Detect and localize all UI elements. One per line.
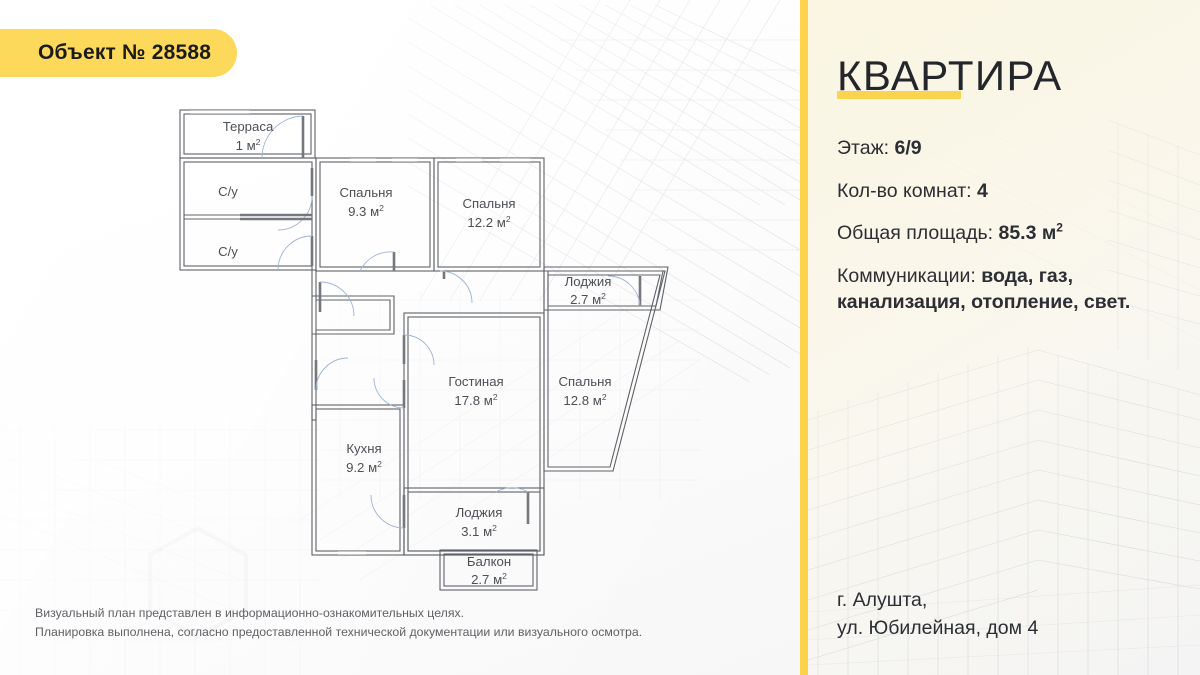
spec-floor: Этаж: 6/9 (837, 136, 1177, 162)
room-area-bed-93: 9.3 м2 (348, 203, 384, 219)
spec-area-value: 85.3 м (998, 222, 1056, 244)
floor-plan-drawing: Терраса 1 м2 С/у С/у Спальня 9.3 м2 Спал… (0, 0, 800, 675)
room-area-living: 17.8 м2 (454, 392, 497, 408)
room-area-balcony: 2.7 м2 (471, 571, 507, 587)
plan-walls (180, 110, 668, 590)
room-label-bed-128: Спальня (559, 374, 612, 389)
yellow-divider (800, 0, 808, 675)
object-number-badge: Объект № 28588 (0, 29, 237, 77)
plan-windows (190, 112, 530, 553)
room-area-bed-122: 12.2 м2 (467, 214, 510, 230)
address-line-2: ул. Юбилейная, дом 4 (837, 614, 1187, 642)
plan-doors (240, 116, 640, 528)
spec-rooms: Кол-во комнат: 4 (837, 179, 1177, 205)
room-area-kitchen: 9.2 м2 (346, 459, 382, 475)
room-label-kitchen: Кухня (346, 441, 381, 456)
disclaimer-line-1: Визуальный план представлен в информацио… (35, 604, 765, 623)
disclaimer-text: Визуальный план представлен в информацио… (35, 604, 765, 642)
room-label-bed-122: Спальня (463, 196, 516, 211)
object-number-label: Объект № 28588 (38, 41, 211, 65)
spec-floor-label: Этаж: (837, 137, 889, 159)
spec-area-label: Общая площадь: (837, 222, 993, 244)
room-label-wc-2: С/у (218, 244, 238, 259)
spec-utilities: Коммуникации: вода, газ, канализация, от… (837, 264, 1177, 315)
room-label-balcony: Балкон (467, 554, 511, 569)
room-area-loggia-27: 2.7 м2 (570, 291, 606, 307)
room-label-bed-93: Спальня (340, 185, 393, 200)
spec-rooms-label: Кол-во комнат: (837, 180, 972, 202)
address-line-1: г. Алушта, (837, 586, 1187, 614)
title-underline-rule (837, 91, 961, 99)
infographic-root: Объект № 28588 (0, 0, 1200, 675)
spec-area: Общая площадь: 85.3 м2 (837, 221, 1177, 247)
address-block: г. Алушта, ул. Юбилейная, дом 4 (837, 586, 1187, 643)
room-label-loggia-31: Лоджия (456, 505, 503, 520)
room-area-bed-128: 12.8 м2 (563, 392, 606, 408)
room-label-loggia-27: Лоджия (565, 274, 612, 289)
room-label-living: Гостиная (448, 374, 503, 389)
floor-plan-panel: Объект № 28588 (0, 0, 800, 675)
room-label-terrace: Терраса (223, 119, 274, 134)
plan-room-labels: Терраса 1 м2 С/у С/у Спальня 9.3 м2 Спал… (218, 119, 611, 587)
specs-list: Этаж: 6/9 Кол-во комнат: 4 Общая площадь… (837, 136, 1177, 333)
room-label-wc-1: С/у (218, 184, 238, 199)
room-area-terrace: 1 м2 (236, 137, 261, 153)
spec-floor-value: 6/9 (894, 137, 921, 159)
spec-utilities-label: Коммуникации: (837, 265, 976, 287)
room-area-loggia-31: 3.1 м2 (461, 523, 497, 539)
details-panel: КВАРТИРА Этаж: 6/9 Кол-во комнат: 4 Обща… (808, 0, 1200, 675)
spec-area-unit-sup: 2 (1056, 221, 1063, 235)
spec-rooms-value: 4 (977, 180, 988, 202)
disclaimer-line-2: Планировка выполнена, согласно предостав… (35, 623, 765, 642)
